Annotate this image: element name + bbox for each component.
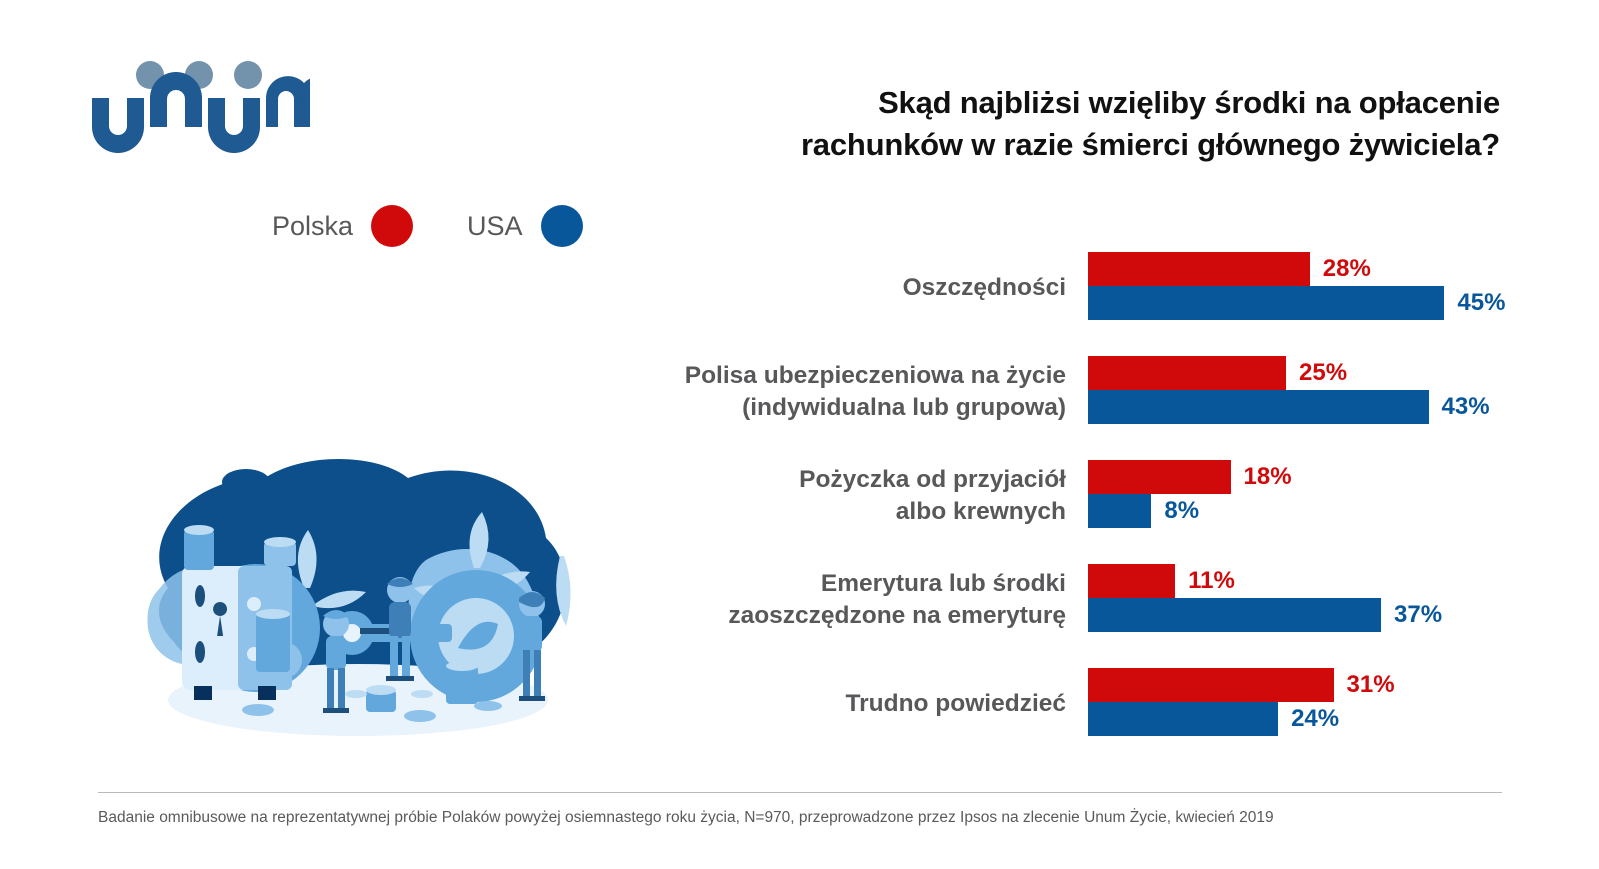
category-label: Polisa ubezpieczeniowa na życie(indywidu… — [600, 360, 1088, 425]
bar-value-polska: 18% — [1231, 463, 1292, 491]
footnote-text: Badanie omnibusowe na reprezentatywnej p… — [98, 809, 1498, 827]
bar-usa — [1088, 494, 1151, 528]
bar-pair: 18%8% — [1088, 444, 1540, 548]
legend-label-polska: Polska — [272, 211, 353, 242]
category-label-line: Trudno powiedzieć — [600, 688, 1066, 720]
category-label-line: albo krewnych — [600, 496, 1066, 528]
bar-value-usa: 37% — [1381, 601, 1442, 629]
category-label-line: Emerytura lub środki — [600, 568, 1066, 600]
illustration-small-blob — [222, 469, 270, 495]
infographic-page: ® Skąd najbliżsi wzięliby środki na opła… — [0, 0, 1599, 869]
bar-row-polska: 28% — [1088, 252, 1371, 286]
bar-row-usa: 24% — [1088, 702, 1339, 736]
category-label-line: Oszczędności — [600, 272, 1066, 304]
chart-group: Emerytura lub środkizaoszczędzone na eme… — [600, 548, 1540, 652]
chart-legend: Polska USA — [272, 205, 583, 247]
title-line-1: Skąd najbliżsi wzięliby środki na opłace… — [690, 82, 1500, 124]
bar-polska — [1088, 252, 1310, 286]
bar-value-polska: 31% — [1334, 671, 1395, 699]
bar-row-polska: 11% — [1088, 564, 1235, 598]
bar-value-usa: 8% — [1151, 497, 1199, 525]
bar-row-usa: 37% — [1088, 598, 1442, 632]
bar-row-polska: 18% — [1088, 460, 1292, 494]
footer-divider — [98, 792, 1502, 793]
category-label-line: Pożyczka od przyjaciół — [600, 464, 1066, 496]
legend-swatch-polska — [371, 205, 413, 247]
bar-pair: 11%37% — [1088, 548, 1540, 652]
page-title: Skąd najbliżsi wzięliby środki na opłace… — [690, 82, 1500, 165]
chart-group: Oszczędności28%45% — [600, 236, 1540, 340]
bar-row-usa: 45% — [1088, 286, 1505, 320]
bar-value-polska: 11% — [1175, 567, 1235, 595]
bar-chart: Oszczędności28%45%Polisa ubezpieczeniowa… — [600, 236, 1540, 756]
bar-polska — [1088, 564, 1175, 598]
chart-group: Polisa ubezpieczeniowa na życie(indywidu… — [600, 340, 1540, 444]
category-label: Trudno powiedzieć — [600, 688, 1088, 720]
bar-row-polska: 25% — [1088, 356, 1347, 390]
savings-vault-key-coins-illustration — [108, 438, 594, 744]
registered-trademark-icon: ® — [297, 95, 306, 109]
category-label-line: zaoszczędzone na emeryturę — [600, 600, 1066, 632]
bar-value-polska: 28% — [1310, 255, 1371, 283]
bar-pair: 31%24% — [1088, 652, 1540, 756]
legend-swatch-usa — [541, 205, 583, 247]
category-label: Oszczędności — [600, 272, 1088, 304]
bar-usa — [1088, 390, 1429, 424]
chart-group: Trudno powiedzieć31%24% — [600, 652, 1540, 756]
bar-value-usa: 24% — [1278, 705, 1339, 733]
unum-logo: ® — [88, 58, 310, 153]
bar-value-usa: 45% — [1444, 289, 1505, 317]
bar-polska — [1088, 460, 1231, 494]
bar-usa — [1088, 598, 1381, 632]
bar-value-usa: 43% — [1429, 393, 1490, 421]
legend-label-usa: USA — [467, 211, 523, 242]
category-label: Emerytura lub środkizaoszczędzone na eme… — [600, 568, 1088, 633]
category-label: Pożyczka od przyjaciółalbo krewnych — [600, 464, 1088, 529]
bar-polska — [1088, 668, 1334, 702]
title-line-2: rachunków w razie śmierci głównego żywic… — [690, 124, 1500, 166]
bar-row-usa: 43% — [1088, 390, 1490, 424]
bar-row-usa: 8% — [1088, 494, 1199, 528]
bar-usa — [1088, 286, 1444, 320]
bar-pair: 25%43% — [1088, 340, 1540, 444]
bar-usa — [1088, 702, 1278, 736]
chart-group: Pożyczka od przyjaciółalbo krewnych18%8% — [600, 444, 1540, 548]
bar-value-polska: 25% — [1286, 359, 1347, 387]
category-label-line: Polisa ubezpieczeniowa na życie — [600, 360, 1066, 392]
bar-row-polska: 31% — [1088, 668, 1395, 702]
bar-pair: 28%45% — [1088, 236, 1540, 340]
bar-polska — [1088, 356, 1286, 390]
category-label-line: (indywidualna lub grupowa) — [600, 392, 1066, 424]
